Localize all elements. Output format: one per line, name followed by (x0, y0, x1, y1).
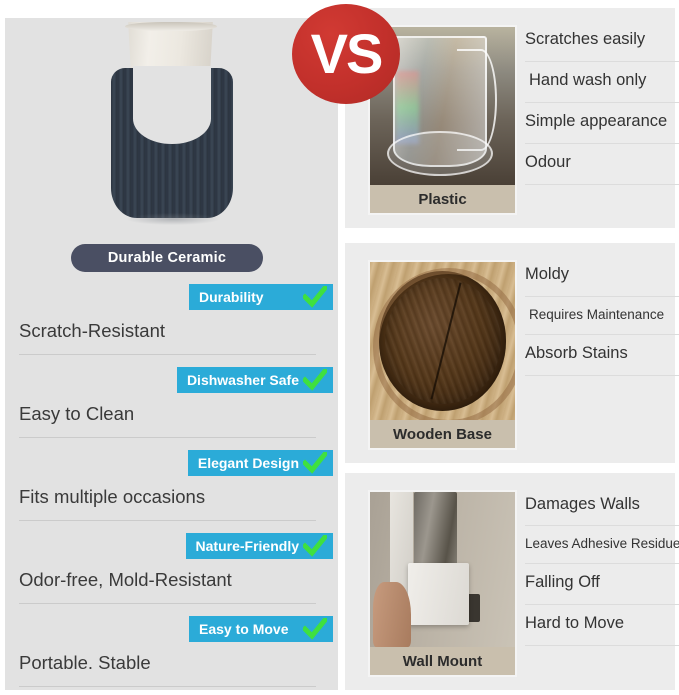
con-text: Simple appearance (525, 103, 665, 131)
cup-rim-shape (125, 22, 217, 31)
green-check-icon (303, 286, 327, 308)
feature-divider (19, 437, 316, 438)
con-row: Simple appearance (525, 103, 665, 144)
holder-opening-shape (133, 66, 211, 144)
hand-shape (373, 582, 411, 647)
con-text: Hand wash only (525, 62, 665, 90)
wall-mount-holder-photo (370, 492, 515, 647)
con-row: Falling Off (525, 564, 665, 605)
feature-badge-label: Easy to Move (189, 621, 292, 637)
con-divider (525, 375, 679, 376)
green-check-icon (303, 369, 327, 391)
card-caption-label: Wooden Base (393, 426, 492, 443)
card-photo (368, 490, 517, 649)
feature-divider (19, 354, 316, 355)
green-check-icon (303, 618, 327, 640)
product-name-label: Durable Ceramic (108, 250, 226, 266)
con-row: Scratches easily (525, 22, 665, 62)
con-list: Scratches easily Hand wash only Simple a… (525, 22, 665, 185)
con-row: Hard to Move (525, 605, 665, 646)
feature-list: Durability Scratch-Resistant Dishwasher … (5, 280, 338, 695)
card-caption-label: Plastic (418, 191, 466, 208)
feature-row: Dishwasher Safe Easy to Clean (5, 363, 338, 446)
feature-badge-label: Dishwasher Safe (177, 372, 303, 388)
feature-divider (19, 686, 316, 687)
con-row: Odour (525, 144, 665, 185)
plastic-base-shape (387, 131, 493, 176)
vs-badge: VS (292, 4, 400, 104)
feature-badge-label: Durability (189, 289, 268, 305)
pros-panel: Durable Ceramic Durability Scratch-Resis… (5, 18, 338, 690)
wooden-bowl-photo (370, 262, 515, 420)
vs-label: VS (311, 26, 382, 82)
ceramic-product-image (5, 18, 338, 226)
con-row: Hand wash only (525, 62, 665, 103)
card-caption: Plastic (368, 185, 517, 215)
product-shadow (127, 213, 219, 225)
con-row: Absorb Stains (525, 335, 665, 376)
card-caption: Wooden Base (368, 420, 517, 450)
feature-text: Easy to Clean (19, 403, 134, 425)
feature-badge: Dishwasher Safe (177, 367, 333, 393)
con-divider (525, 184, 679, 185)
con-card-wooden-base: Wooden Base Moldy Requires Maintenance A… (345, 243, 675, 463)
feature-badge: Nature-Friendly (186, 533, 333, 559)
con-list: Moldy Requires Maintenance Absorb Stains (525, 257, 665, 376)
navy-holder-shape (111, 68, 233, 218)
con-text: Scratches easily (525, 22, 665, 49)
feature-text: Fits multiple occasions (19, 486, 205, 508)
feature-row: Elegant Design Fits multiple occasions (5, 446, 338, 529)
con-row: Damages Walls (525, 487, 665, 526)
feature-badge-label: Nature-Friendly (186, 538, 303, 554)
con-text: Hard to Move (525, 605, 665, 633)
feature-badge: Durability (189, 284, 333, 310)
card-photo (368, 260, 517, 422)
feature-badge-label: Elegant Design (188, 455, 303, 471)
feature-row: Easy to Move Portable. Stable (5, 612, 338, 695)
feature-badge: Elegant Design (188, 450, 333, 476)
feature-divider (19, 603, 316, 604)
con-text: Falling Off (525, 564, 665, 592)
green-check-icon (303, 452, 327, 474)
cup-holder-illustration (97, 22, 247, 226)
con-text: Leaves Adhesive Residue (525, 526, 665, 551)
con-row: Leaves Adhesive Residue (525, 526, 665, 564)
feature-text: Portable. Stable (19, 652, 151, 674)
con-text: Damages Walls (525, 487, 665, 514)
con-row: Moldy (525, 257, 665, 297)
card-caption: Wall Mount (368, 647, 517, 677)
con-divider (525, 645, 679, 646)
card-caption-label: Wall Mount (403, 653, 482, 670)
con-text: Odour (525, 144, 665, 172)
con-card-wall-mount: Wall Mount Damages Walls Leaves Adhesive… (345, 473, 675, 690)
con-text: Requires Maintenance (525, 297, 665, 322)
feature-row: Nature-Friendly Odor-free, Mold-Resistan… (5, 529, 338, 612)
wall-dispenser-shape (408, 563, 469, 625)
con-list: Damages Walls Leaves Adhesive Residue Fa… (525, 487, 665, 646)
feature-text: Odor-free, Mold-Resistant (19, 569, 232, 591)
con-text: Absorb Stains (525, 335, 665, 363)
feature-row: Durability Scratch-Resistant (5, 280, 338, 363)
feature-badge: Easy to Move (189, 616, 333, 642)
feature-text: Scratch-Resistant (19, 320, 165, 342)
product-name-pill: Durable Ceramic (71, 244, 263, 272)
feature-divider (19, 520, 316, 521)
con-text: Moldy (525, 257, 665, 284)
comparison-infographic: Durable Ceramic Durability Scratch-Resis… (0, 0, 679, 694)
con-row: Requires Maintenance (525, 297, 665, 335)
green-check-icon (303, 535, 327, 557)
